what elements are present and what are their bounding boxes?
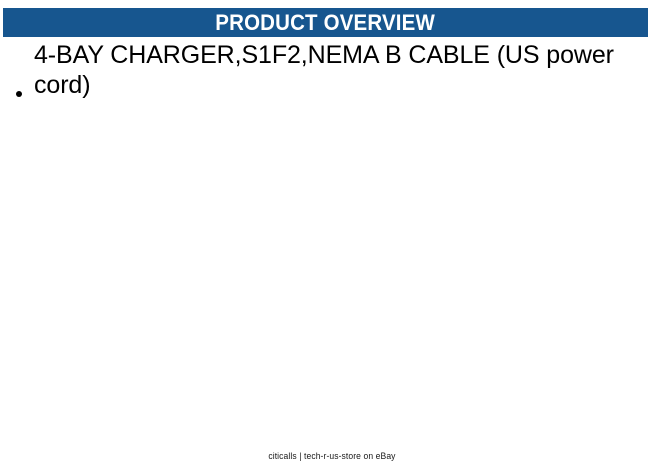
slide-canvas: PRODUCT OVERVIEW 4-BAY CHARGER,S1F2,NEMA… [0,0,663,475]
header-banner: PRODUCT OVERVIEW [3,8,648,37]
list-item: 4-BAY CHARGER,S1F2,NEMA B CABLE (US powe… [0,40,663,100]
content-area: 4-BAY CHARGER,S1F2,NEMA B CABLE (US powe… [0,40,663,420]
bullet-list: 4-BAY CHARGER,S1F2,NEMA B CABLE (US powe… [0,40,663,100]
bullet-dot-icon [16,91,22,97]
list-item-label: 4-BAY CHARGER,S1F2,NEMA B CABLE (US powe… [34,40,655,100]
page-title: PRODUCT OVERVIEW [216,12,436,34]
footer-attribution: citicalls | tech-r-us-store on eBay [268,450,395,462]
footer: citicalls | tech-r-us-store on eBay [0,446,663,464]
